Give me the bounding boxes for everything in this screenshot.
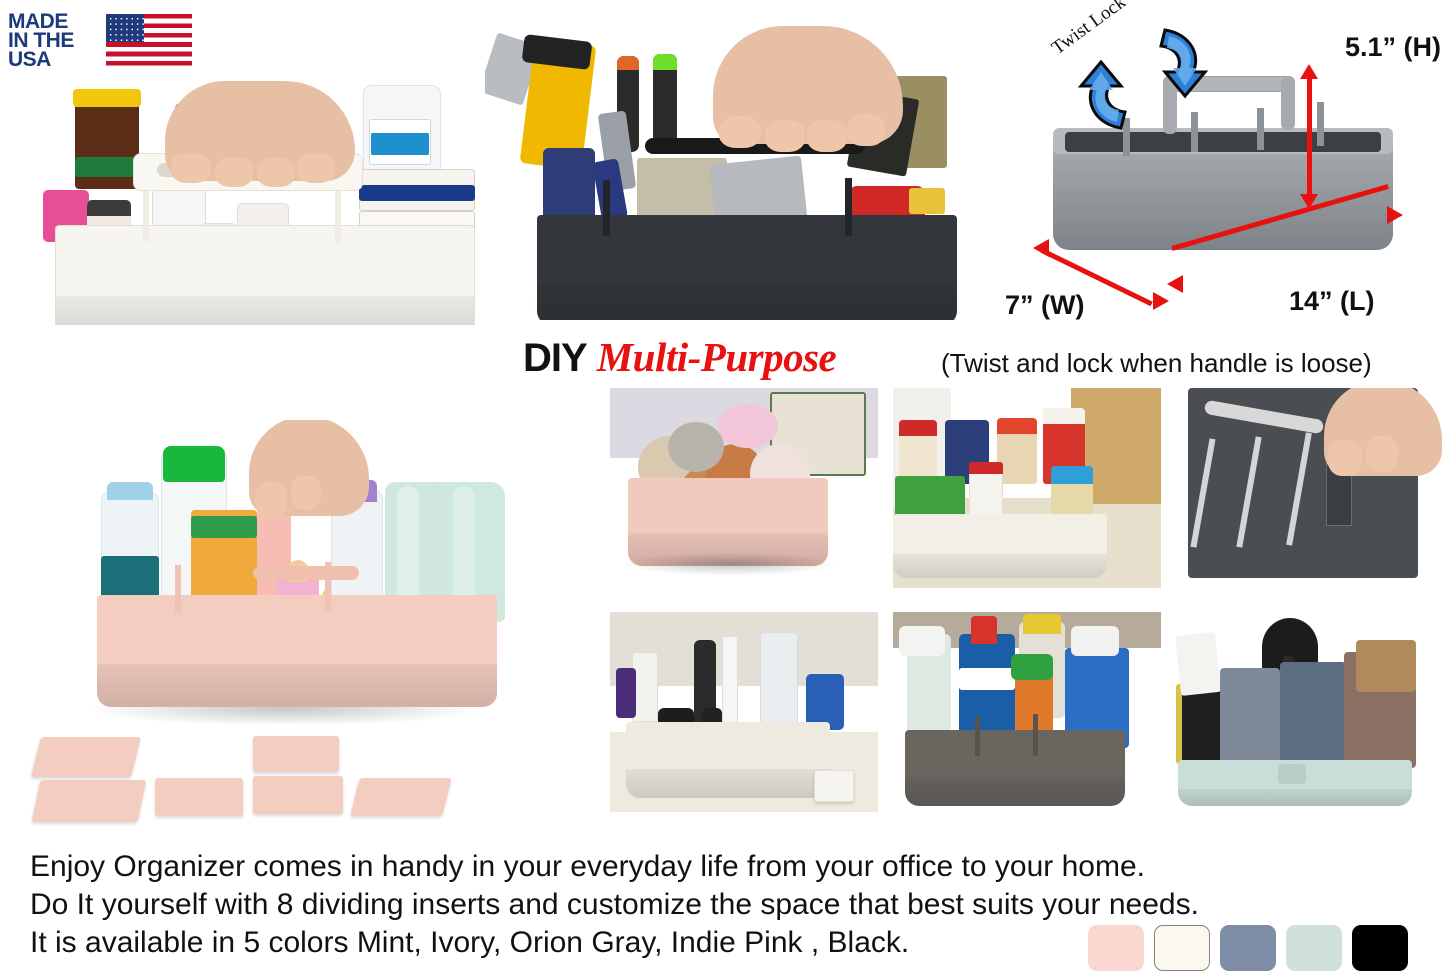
color-swatch-indie-pink xyxy=(1088,925,1144,971)
width-label: 7” (W) xyxy=(1005,290,1084,321)
tote-divider-right xyxy=(845,178,852,236)
usecase-cell-cleaning: Cleaning xyxy=(893,612,1161,812)
ivory-tote-body xyxy=(55,225,475,325)
finger xyxy=(255,482,287,518)
usecase-grid: Kids’ Room Kitchen xyxy=(610,388,1445,836)
description-line-1: Enjoy Organizer comes in handy in your e… xyxy=(30,848,1430,886)
usecase-cell-kids-room: Kids’ Room xyxy=(610,388,878,588)
finger xyxy=(171,153,211,183)
made-in-usa-badge: MADE IN THE USA xyxy=(8,12,194,70)
height-arrow-line xyxy=(1307,76,1312,196)
height-arrow-head-up xyxy=(1300,64,1318,79)
divider-insert xyxy=(31,737,141,777)
spice-jar-tall-cap xyxy=(1043,408,1085,424)
paper-stack xyxy=(1176,632,1221,696)
wipes-spray-head xyxy=(1071,626,1119,656)
hero-tool-tote-photo xyxy=(485,20,985,320)
badge-line-3: USA xyxy=(8,50,104,69)
divider-insert xyxy=(155,778,243,816)
made-in-usa-text: MADE IN THE USA xyxy=(8,12,104,69)
spray-trigger xyxy=(899,626,945,656)
hero-baby-tote-photo xyxy=(25,420,545,730)
flag-canton xyxy=(106,14,144,42)
usecase-cell-art-craft: Art / Craft xyxy=(1176,612,1444,812)
blue-lid xyxy=(1051,466,1093,484)
color-swatch-orion-gray xyxy=(1220,925,1276,971)
vitamin-label xyxy=(75,157,139,177)
clorox-label xyxy=(959,668,1015,690)
tote-handle xyxy=(253,566,359,580)
tote-handle-post-right xyxy=(1281,76,1295,130)
vitamin-bottle-cap xyxy=(73,89,141,107)
tote-divider-left xyxy=(603,180,610,236)
finger xyxy=(1366,436,1398,472)
tote-shadow xyxy=(622,552,838,576)
clorox-cap xyxy=(971,616,997,644)
notebook xyxy=(1176,684,1222,764)
tote-divider xyxy=(1257,108,1264,150)
finger xyxy=(765,120,805,152)
gray-tote xyxy=(905,730,1125,806)
purple-bottle xyxy=(616,668,636,718)
tote-divider xyxy=(975,716,980,756)
us-flag-icon xyxy=(106,14,192,66)
green-cap xyxy=(163,446,225,482)
height-label: 5.1” (H) xyxy=(1345,32,1441,63)
headline-multi-purpose: Multi-Purpose xyxy=(597,334,837,380)
flag-upper-stripes xyxy=(144,14,192,42)
screwdriver-orange-tip xyxy=(617,56,639,70)
finger xyxy=(807,120,847,152)
divider-insert xyxy=(350,778,451,816)
finger xyxy=(719,116,761,148)
dimension-diagram: Twist Lock 5.1” (H) 14” (L) 7” (W) xyxy=(995,10,1445,330)
tote-divider xyxy=(1317,102,1324,146)
baby-powder-cap xyxy=(107,482,153,500)
yellow-cap xyxy=(1023,614,1061,634)
baby-powder-label xyxy=(101,556,159,600)
divider-insert xyxy=(32,780,147,822)
headline: DIYMulti-Purpose xyxy=(523,333,836,381)
finger xyxy=(847,114,885,146)
black-tote-body xyxy=(537,215,957,320)
screwdriver-green-tip xyxy=(653,54,677,70)
hero-medicine-tote-photo xyxy=(25,75,485,325)
finger xyxy=(257,157,295,187)
marker-cluster-left xyxy=(1220,668,1280,768)
plush-toy xyxy=(668,422,724,472)
color-swatch-mint xyxy=(1286,925,1342,971)
divider-insert xyxy=(253,736,339,772)
tote-divider-left xyxy=(143,183,149,241)
marker-cluster-mid xyxy=(1280,662,1346,768)
usecase-cell-easy-inserts: Easy Inserts xyxy=(1176,388,1444,588)
length-arrow-head-left xyxy=(1167,275,1183,293)
tape-measure-blade xyxy=(909,188,945,214)
finger xyxy=(297,153,335,183)
spare-divider-panel xyxy=(814,770,854,802)
finger xyxy=(1328,440,1362,476)
finger xyxy=(291,476,321,510)
twist-lock-note: (Twist and lock when handle is loose) xyxy=(941,348,1372,379)
ivory-tote xyxy=(626,722,830,798)
width-arrow-head-left xyxy=(1033,239,1049,257)
toothbrush xyxy=(722,636,738,732)
length-arrow-head-right xyxy=(1387,206,1403,224)
infographic-canvas: MADE IN THE USA xyxy=(0,0,1445,973)
green-spray-head xyxy=(1011,654,1053,680)
pink-tote-body xyxy=(97,595,497,707)
alcohol-label-band xyxy=(371,133,429,155)
width-arrow-head-right xyxy=(1153,292,1169,310)
dark-jar-lid xyxy=(87,200,131,216)
finger xyxy=(215,157,253,187)
color-swatch-ivory xyxy=(1154,925,1210,971)
tote-divider-right xyxy=(335,183,341,243)
tote-divider-left xyxy=(175,565,181,613)
spice-jar-orange-cap xyxy=(997,418,1037,434)
spice-jar-red-cap xyxy=(899,420,937,436)
color-swatch-black xyxy=(1352,925,1408,971)
headline-diy: DIY xyxy=(523,336,587,380)
mouthwash-bottle xyxy=(760,632,798,730)
usecase-cell-bathroom: Bathroom xyxy=(610,612,878,812)
plush-toy xyxy=(718,404,778,448)
ivory-tote xyxy=(893,514,1107,578)
description-line-2: Do It yourself with 8 dividing inserts a… xyxy=(30,886,1430,924)
length-label: 14” (L) xyxy=(1289,286,1375,317)
bandaid-band-1 xyxy=(359,185,475,201)
color-swatch-row xyxy=(1088,925,1408,971)
pencil-cluster xyxy=(1356,640,1416,692)
tote-divider xyxy=(1033,714,1038,756)
wipes-pouch-band xyxy=(191,516,257,538)
salt-shaker-cap xyxy=(969,462,1003,474)
usecase-cell-kitchen: Kitchen xyxy=(893,388,1161,588)
divider-insert xyxy=(253,776,343,814)
tote-handle-bracket xyxy=(1278,764,1306,784)
